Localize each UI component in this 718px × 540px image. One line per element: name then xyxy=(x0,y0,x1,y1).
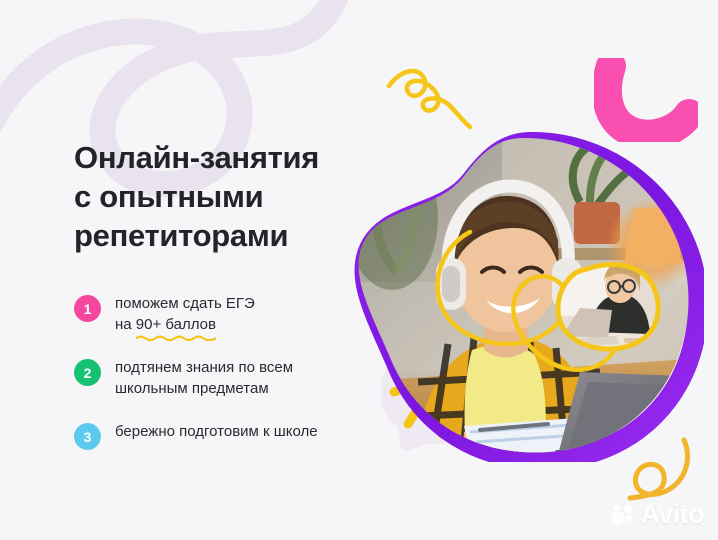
benefit-badge-3: 3 xyxy=(74,423,101,450)
benefits-list: 1 поможем сдать ЕГЭ на 90+ баллов 2 подт… xyxy=(74,293,374,450)
avito-brand-text: Avito xyxy=(641,499,705,530)
list-item: 1 поможем сдать ЕГЭ на 90+ баллов xyxy=(74,293,374,335)
benefit-badge-1: 1 xyxy=(74,295,101,322)
yellow-squiggle-top-decoration xyxy=(386,64,476,130)
hero-photo-blob xyxy=(352,132,704,462)
advertisement-banner: Онлайн-занятия с опытными репетиторами 1… xyxy=(0,0,718,540)
benefit-highlight-score: 90+ баллов xyxy=(136,314,216,335)
wavy-underline-icon xyxy=(136,334,216,341)
page-title: Онлайн-занятия с опытными репетиторами xyxy=(74,138,374,255)
text-content-column: Онлайн-занятия с опытными репетиторами 1… xyxy=(74,138,374,450)
benefit-text-1: поможем сдать ЕГЭ на 90+ баллов xyxy=(115,293,255,335)
benefit-text-2: подтянем знания по всем школьным предмет… xyxy=(115,357,293,399)
avito-dots-icon xyxy=(611,503,635,527)
pink-banana-decoration xyxy=(594,58,698,142)
list-item: 3 бережно подготовим к школе xyxy=(74,421,374,450)
list-item: 2 подтянем знания по всем школьным предм… xyxy=(74,357,374,399)
hero-illustration xyxy=(352,132,704,462)
avito-watermark: Avito xyxy=(611,499,705,530)
benefit-text-3: бережно подготовим к школе xyxy=(115,421,318,442)
benefit-badge-2: 2 xyxy=(74,359,101,386)
